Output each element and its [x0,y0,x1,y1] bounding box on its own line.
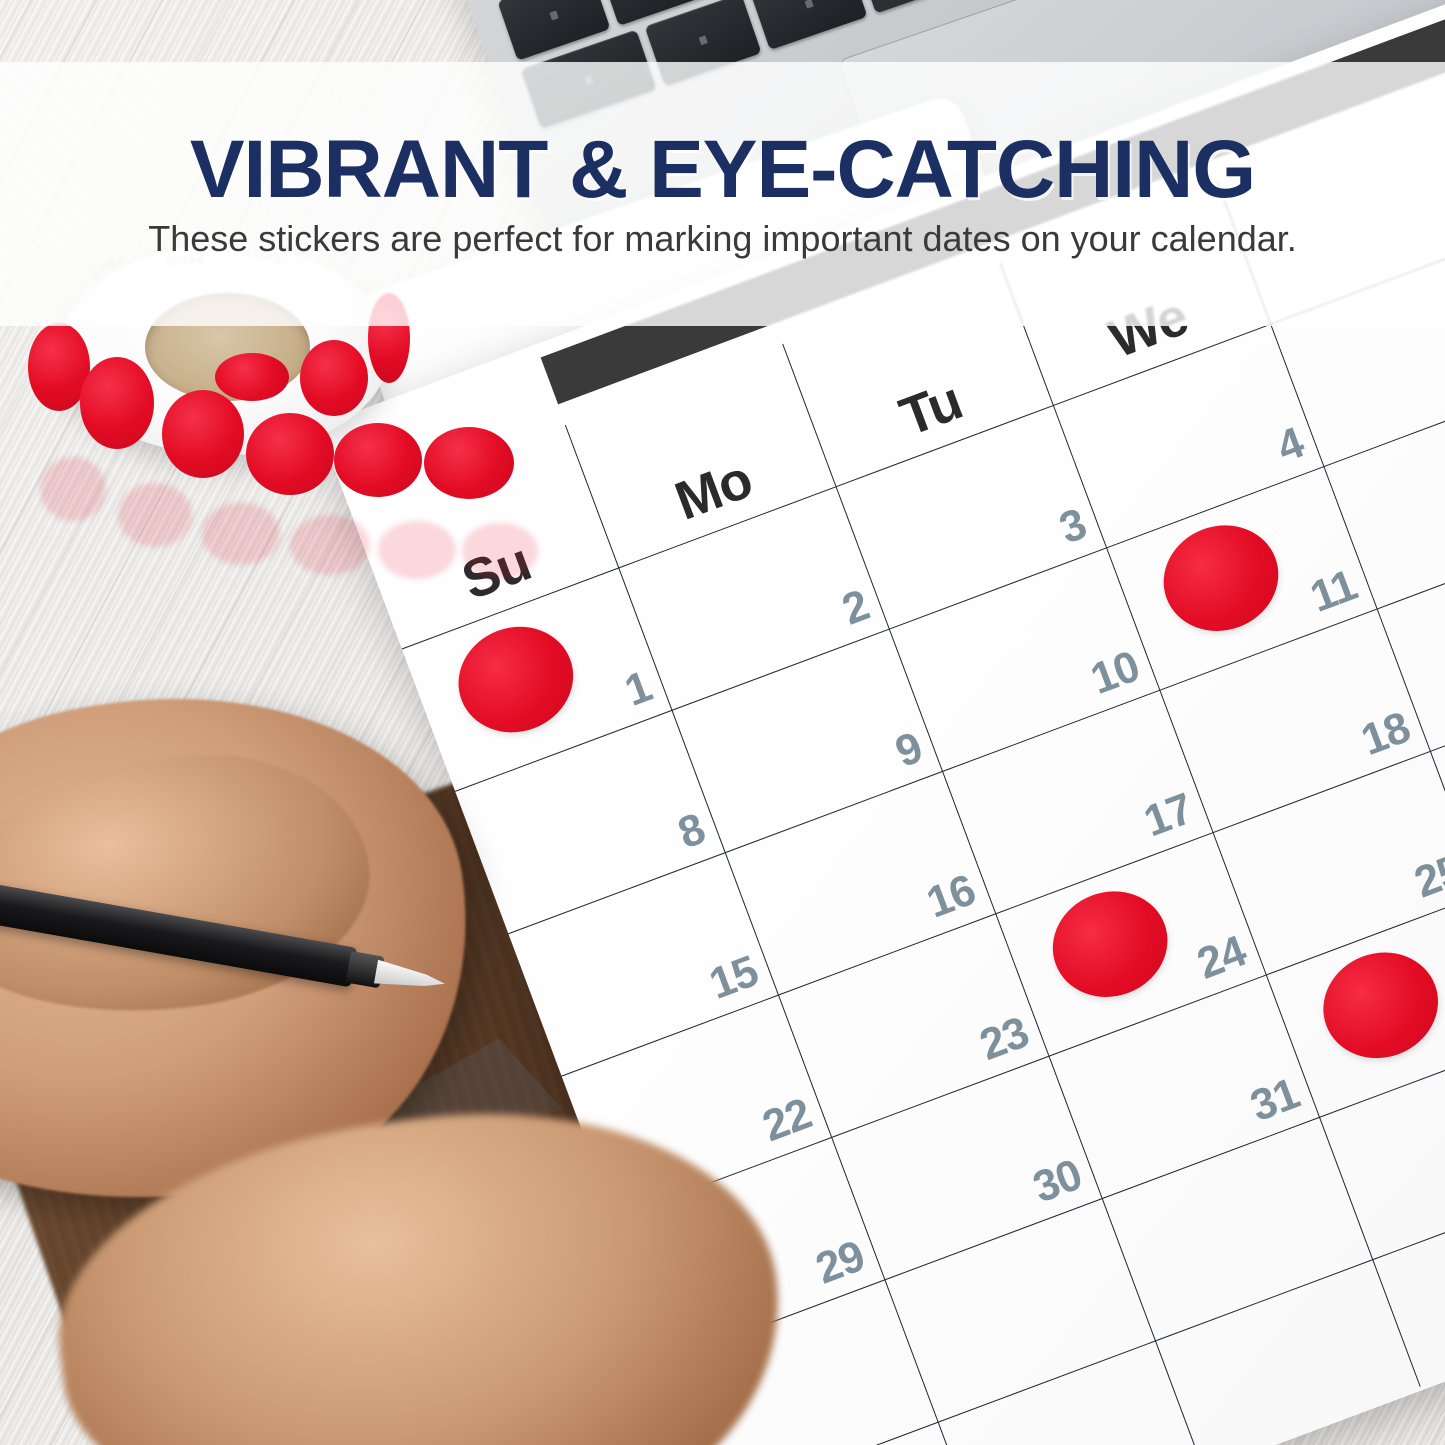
calendar-date: 15 [703,947,764,1010]
headline-text: VIBRANT & EYE-CATCHING [190,129,1255,211]
red-dot-sticker [424,427,514,499]
calendar-date: 11 [1304,560,1363,622]
red-dot-sticker [1038,875,1183,1013]
product-marketing-image: Su Mo Tu We 1 2 3 4 [0,0,1445,1445]
calendar-date: 4 [1270,418,1310,473]
red-dot-sticker [215,353,289,401]
red-dot-sticker [246,413,334,495]
sticker-reflection [290,515,370,575]
calendar-date: 2 [836,581,876,636]
calendar-date: 10 [1084,642,1145,705]
sticker-reflection [118,483,192,547]
red-dot-sticker [80,357,154,449]
red-dot-sticker [1148,509,1293,647]
calendar-date: 16 [920,865,981,928]
subheadline-text: These stickers are perfect for marking i… [148,219,1297,259]
calendar-date: 25 [1408,845,1445,908]
calendar-date: 9 [889,723,929,778]
red-dot-sticker [334,423,422,497]
calendar-date: 22 [756,1089,817,1152]
sticker-reflection [202,503,280,565]
calendar-date: 18 [1355,703,1416,766]
red-dot-sticker [1308,936,1445,1074]
calendar-day-header-label: Tu [892,370,970,449]
sticker-reflection [40,457,106,521]
calendar-date: 8 [672,804,712,859]
sticker-reflection [378,521,456,579]
sticker-reflection [462,523,538,579]
calendar-date: 24 [1191,926,1252,989]
calendar-date: 1 [618,662,658,717]
calendar-date: 30 [1027,1150,1088,1213]
red-dot-sticker [443,611,588,749]
red-dot-sticker [162,390,244,478]
calendar-date: 3 [1053,499,1093,554]
calendar-date: 17 [1138,784,1199,847]
calendar-date: 31 [1244,1069,1305,1132]
red-dot-sticker [300,340,368,416]
calendar-date: 23 [974,1008,1035,1071]
calendar-date: 29 [809,1231,870,1294]
headline-banner: VIBRANT & EYE-CATCHING These stickers ar… [0,62,1445,326]
